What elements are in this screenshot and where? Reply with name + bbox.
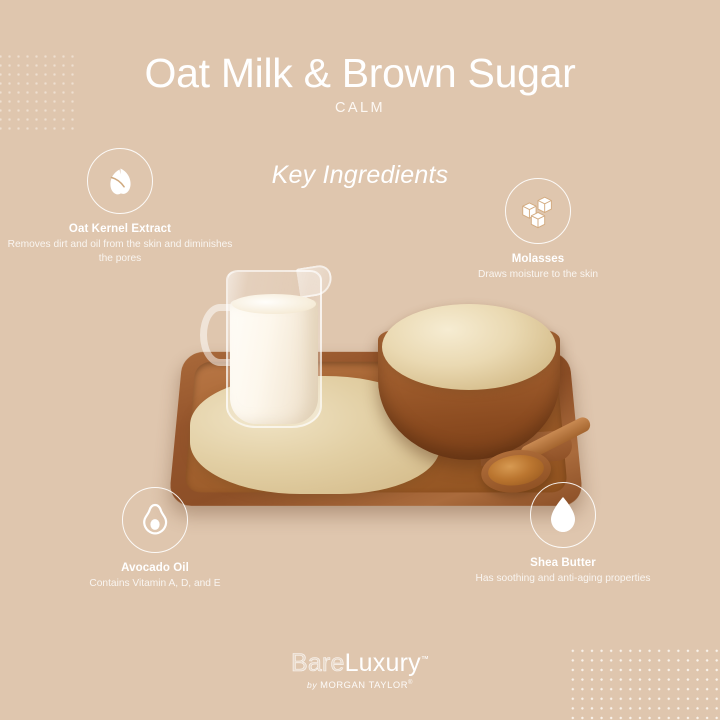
- page-title: Oat Milk & Brown Sugar: [0, 52, 720, 95]
- droplet-icon: [530, 482, 596, 548]
- logo-by-text: by: [307, 680, 320, 690]
- logo-wordmark: BareLuxury™: [0, 651, 720, 676]
- ingredient-avocado-oil: Avocado Oil Contains Vitamin A, D, and E: [35, 487, 275, 591]
- sugar-cubes-icon: [505, 178, 571, 244]
- logo-bare-text: Bare: [291, 649, 345, 677]
- registered-symbol: ®: [408, 680, 413, 686]
- ingredient-title: Avocado Oil: [35, 562, 275, 574]
- oat-milk: [230, 300, 318, 424]
- rolled-oats: [382, 304, 556, 390]
- ingredient-description: Contains Vitamin A, D, and E: [35, 577, 275, 591]
- avocado-icon: [122, 487, 188, 553]
- ingredient-title: Molasses: [418, 253, 658, 265]
- ingredient-molasses: Molasses Draws moisture to the skin: [418, 178, 658, 282]
- brand-logo: BareLuxury™ by MORGAN TAYLOR®: [0, 651, 720, 690]
- pitcher-body: [226, 270, 322, 428]
- page-subtitle: CALM: [0, 100, 720, 116]
- logo-subline: by MORGAN TAYLOR®: [0, 679, 720, 690]
- milk-pitcher: [212, 252, 334, 432]
- ingredient-description: Draws moisture to the skin: [418, 268, 658, 282]
- header: Oat Milk & Brown Sugar CALM: [0, 52, 720, 116]
- milk-surface: [232, 294, 316, 314]
- trademark-symbol: ™: [421, 655, 429, 664]
- ingredient-title: Shea Butter: [443, 557, 683, 569]
- logo-parent-brand: MORGAN TAYLOR: [320, 679, 408, 690]
- ingredient-description: Has soothing and anti-aging properties: [443, 572, 683, 586]
- ingredient-shea-butter: Shea Butter Has soothing and anti-aging …: [443, 482, 683, 586]
- logo-luxury-text: Luxury: [345, 649, 421, 677]
- oat-grain-icon: [87, 148, 153, 214]
- ingredient-oat-kernel-extract: Oat Kernel Extract Removes dirt and oil …: [0, 148, 240, 267]
- ingredient-title: Oat Kernel Extract: [0, 223, 240, 235]
- ingredient-description: Removes dirt and oil from the skin and d…: [0, 238, 240, 267]
